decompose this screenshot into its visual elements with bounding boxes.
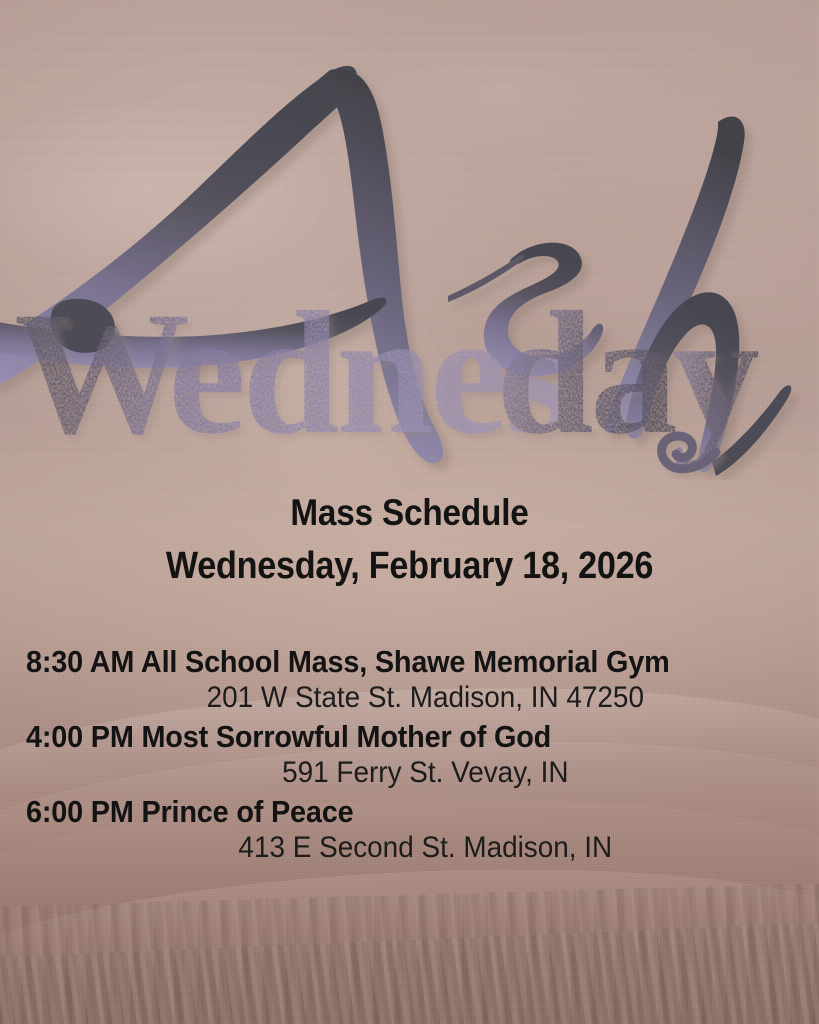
mass-entry-address: 591 Ferry St. Vevay, IN — [53, 755, 766, 792]
list-item: 6:00 PM Prince of Peace 413 E Second St.… — [26, 794, 793, 867]
poster-text-content: Mass Schedule Wednesday, February 18, 20… — [0, 0, 819, 1024]
list-item: 8:30 AM All School Mass, Shawe Memorial … — [26, 644, 793, 717]
mass-entry-title: 4:00 PM Most Sorrowful Mother of God — [26, 719, 739, 755]
mass-entry-address: 413 E Second St. Madison, IN — [53, 830, 766, 867]
page-title: Mass Schedule — [41, 494, 778, 531]
mass-entry-title: 6:00 PM Prince of Peace — [26, 794, 739, 830]
mass-entry-address: 201 W State St. Madison, IN 47250 — [53, 680, 766, 717]
mass-entry-title: 8:30 AM All School Mass, Shawe Memorial … — [26, 644, 739, 680]
ash-wednesday-poster: W ednes da y Mass Schedule Wednesday, Fe… — [0, 0, 819, 1024]
event-date: Wednesday, February 18, 2026 — [41, 547, 778, 585]
mass-schedule-list: 8:30 AM All School Mass, Shawe Memorial … — [26, 644, 793, 869]
list-item: 4:00 PM Most Sorrowful Mother of God 591… — [26, 719, 793, 792]
